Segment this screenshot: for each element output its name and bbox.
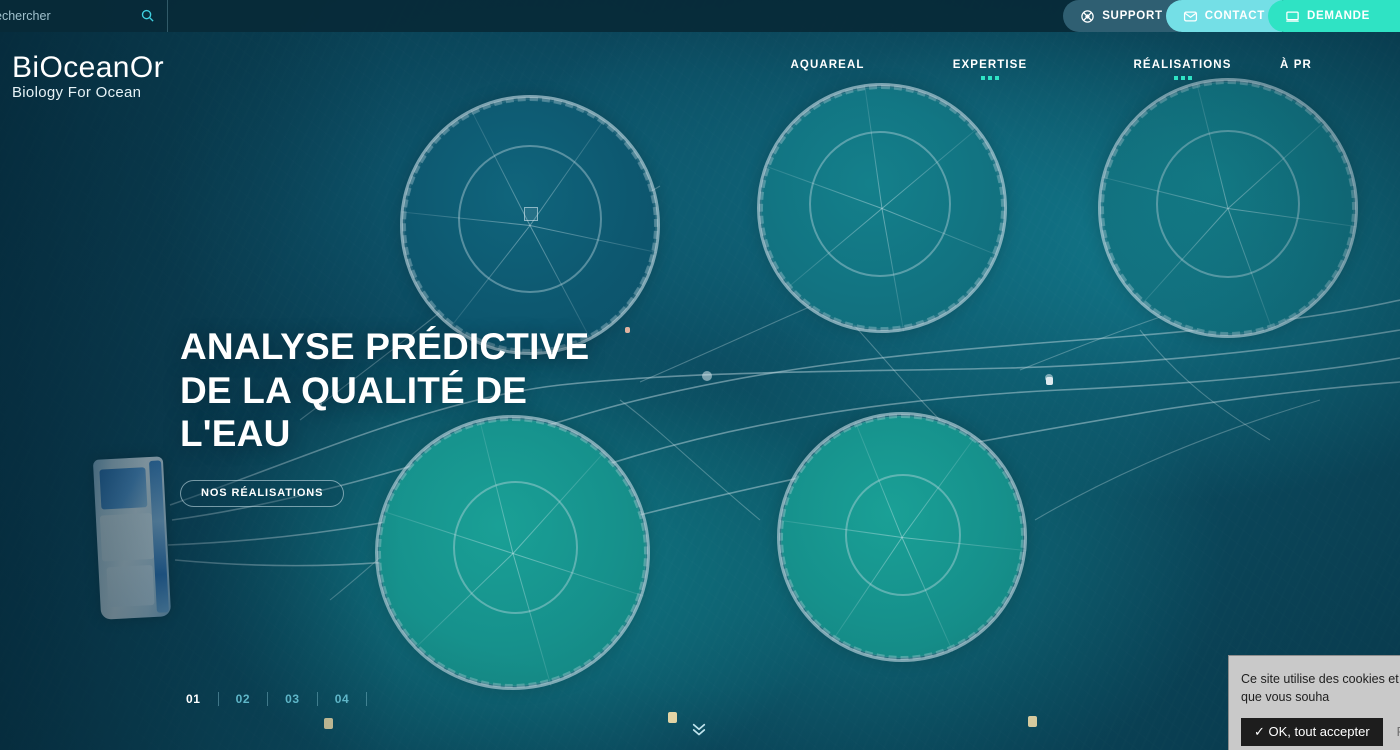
slide-indicator-4[interactable]: 04 [318,692,368,706]
scroll-down-button[interactable] [690,722,708,743]
nav-item-label: AQUAREAL [760,59,895,71]
nav-item-aquareal[interactable]: AQUAREAL [760,55,895,75]
cookie-banner-text: Ce site utilise des cookies et vo contrô… [1241,670,1400,706]
nav-item-a-propos[interactable]: À PR [1280,55,1360,75]
slide-indicator-2[interactable]: 02 [219,692,269,706]
barge-deck-forward [99,467,147,509]
feed-barge [93,456,171,619]
contact-button-label: CONTACT [1205,10,1265,22]
support-button[interactable]: SUPPORT [1063,0,1180,32]
support-button-label: SUPPORT [1102,10,1163,22]
buoy-marker [324,718,333,729]
buoy-marker [1028,716,1037,727]
cookie-banner-actions: ✓ OK, tout accepter Po [1241,718,1400,746]
slider-pagination: 01 02 03 04 [186,692,367,706]
slide-indicator-1[interactable]: 01 [186,692,219,706]
hero-section: ANALYSE PRÉDICTIVE DE LA QUALITÉ DE L'EA… [180,325,610,507]
search-input[interactable] [0,9,106,23]
pen-outer-ring [777,412,1027,662]
barge-deck-mid [100,513,154,562]
nav-item-label: RÉALISATIONS [1085,59,1280,71]
nav-item-realisations[interactable]: RÉALISATIONS [1085,55,1280,84]
lifebuoy-icon [1080,9,1095,24]
cookie-accept-button[interactable]: ✓ OK, tout accepter [1241,718,1383,746]
fish-pen-5 [777,412,1027,662]
main-navigation: AQUAREAL EXPERTISE RÉALISATIONS À PR [760,55,1360,84]
cookie-banner: Ce site utilise des cookies et vo contrô… [1228,655,1400,750]
pen-outer-ring [757,83,1007,333]
contact-button[interactable]: CONTACT [1166,0,1282,32]
pen-outer-ring [400,95,660,355]
hero-cta-button[interactable]: NOS RÉALISATIONS [180,480,344,507]
nav-item-expertise[interactable]: EXPERTISE [895,55,1085,84]
pen-outer-ring [1098,78,1358,338]
hero-headline: ANALYSE PRÉDICTIVE DE LA QUALITÉ DE L'EA… [180,325,610,456]
top-utility-bar: SUPPORT CONTACT DEMANDE [0,0,1400,32]
fish-pen-1 [400,95,660,355]
brand-name: BiOceanOr [12,52,164,83]
nav-item-label: À PR [1280,59,1360,71]
buoy-marker [668,712,677,723]
fish-pen-3 [1098,78,1358,338]
monitor-icon [1285,9,1300,24]
pen-center-hub [524,207,538,221]
chevron-double-down-icon [690,722,708,738]
demande-button-label: DEMANDE [1307,10,1370,22]
page-root: SUPPORT CONTACT DEMANDE BiOceanOr Biolog… [0,0,1400,750]
barge-deck-aft [107,565,155,607]
search-icon[interactable] [140,8,155,23]
nav-item-label: EXPERTISE [895,59,1085,71]
buoy-marker [625,327,630,333]
search-container[interactable] [0,0,168,32]
brand-tagline: Biology For Ocean [12,84,164,101]
envelope-icon [1183,9,1198,24]
brand-logo[interactable]: BiOceanOr Biology For Ocean [12,52,164,101]
dropdown-dots-icon [895,76,1085,80]
fish-pen-2 [757,83,1007,333]
demande-button[interactable]: DEMANDE [1268,0,1400,32]
buoy-marker [1046,377,1053,385]
dropdown-dots-icon [1085,76,1280,80]
slide-indicator-3[interactable]: 03 [268,692,318,706]
